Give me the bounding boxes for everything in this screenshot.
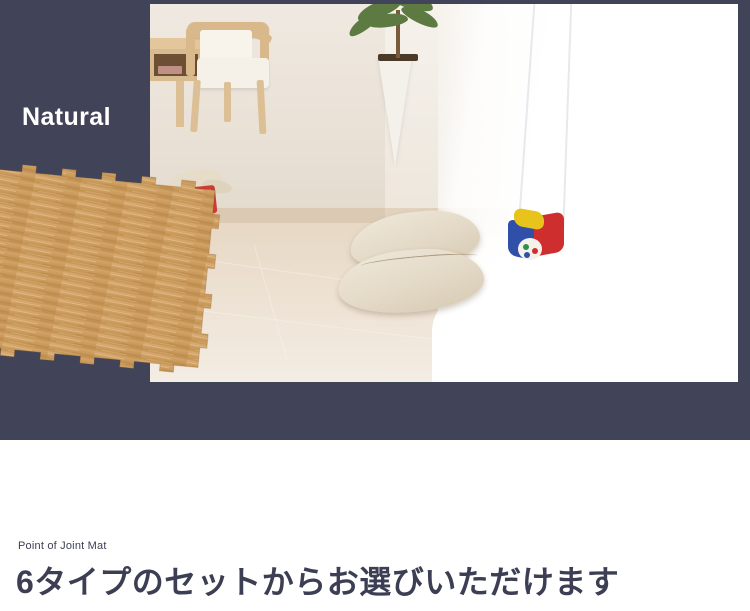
toy-cube [508,210,566,262]
section-eyebrow: Point of Joint Mat [18,541,107,552]
mat-sample-svg [0,158,234,388]
mat-sample-tile [0,158,234,388]
product-page: Natural [0,0,750,611]
side-table-leg [176,81,184,127]
toy-cube-dot [523,244,529,250]
section-headline: 6タイプのセットからお選びいただけます [16,564,619,601]
toy-cube-dot [532,248,538,254]
chair-arm [186,28,195,76]
hero-label-natural: Natural [22,105,111,130]
toy-cube-dot [524,252,530,258]
chair-leg [224,82,231,122]
hero-banner: Natural [0,0,750,440]
mat-tile-shape [0,162,223,375]
room-photo [150,4,738,382]
plant-pot [378,56,412,166]
toy-cube-knob [518,238,542,260]
side-table-item [158,66,182,74]
content-section: Point of Joint Mat 6タイプのセットからお選びいただけます [0,440,750,611]
